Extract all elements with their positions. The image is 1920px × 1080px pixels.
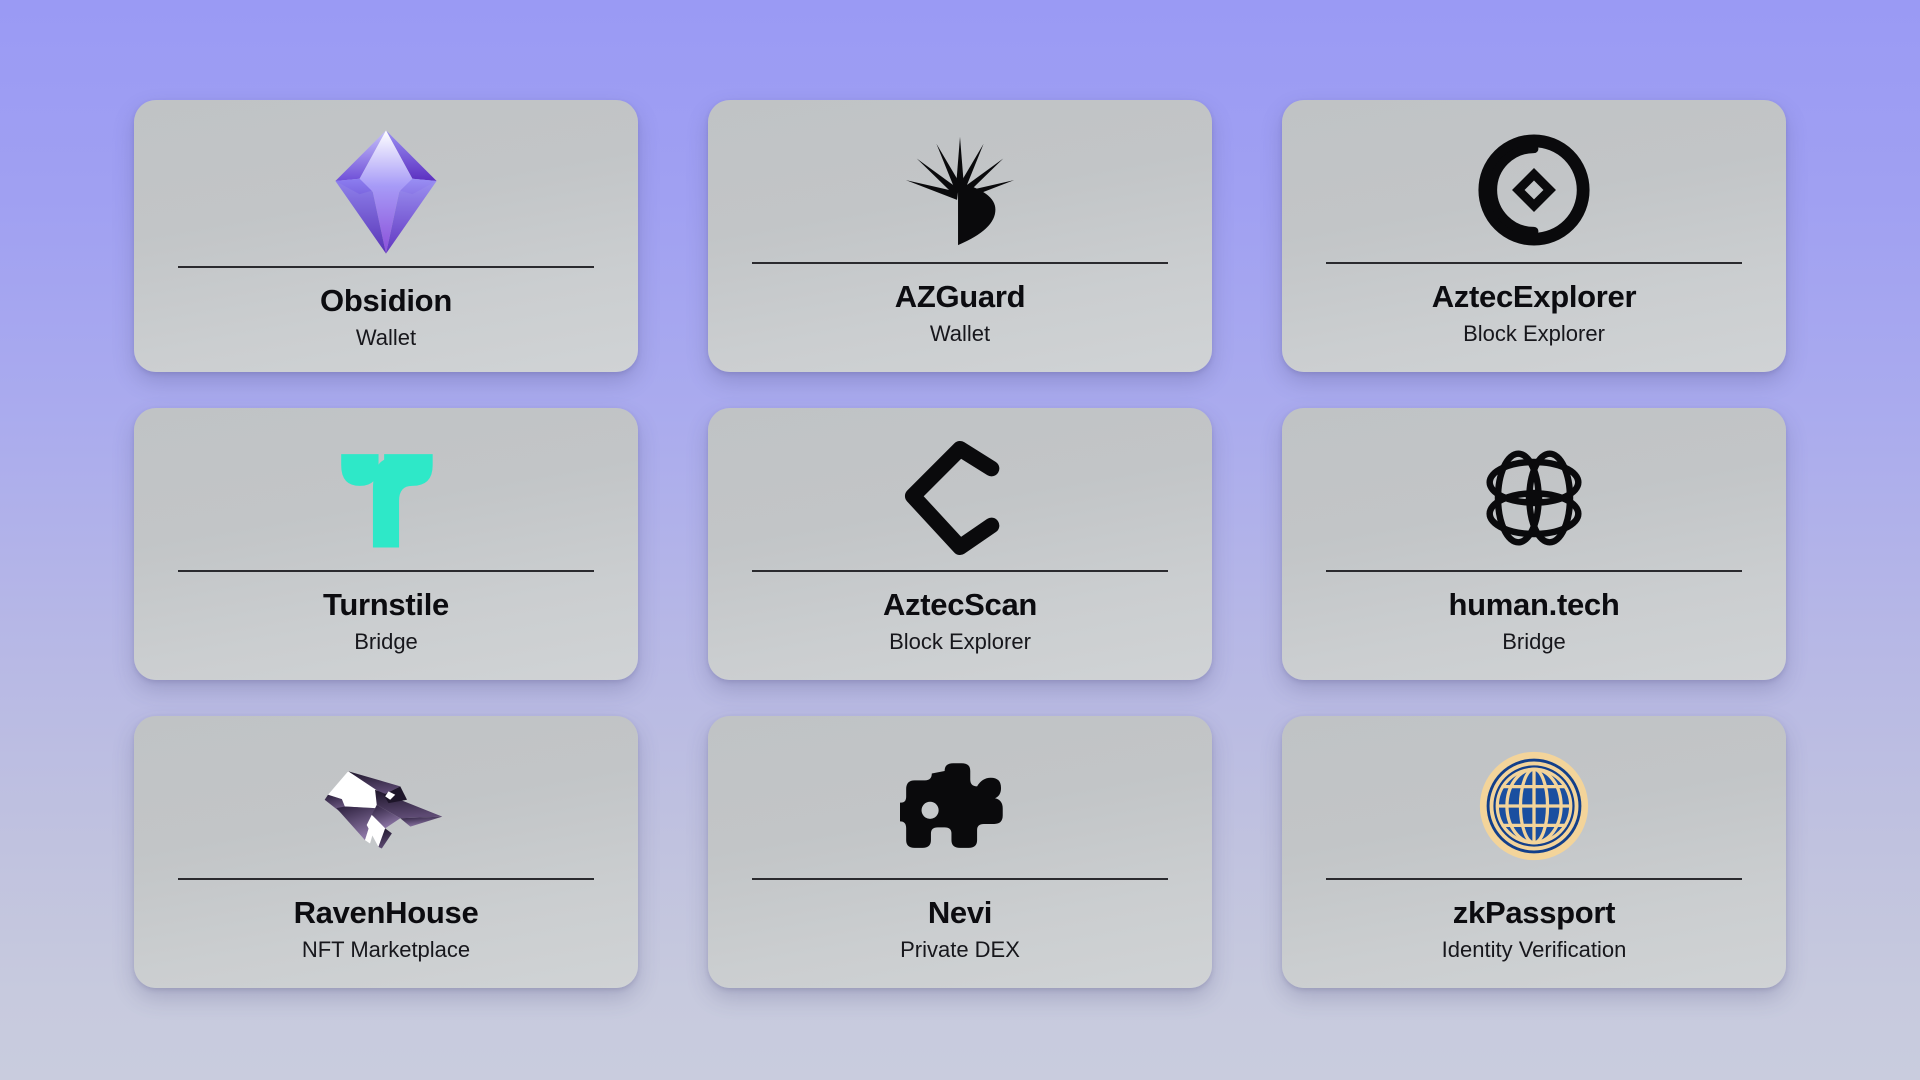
project-name: Obsidion [178, 284, 594, 319]
card-meta: TurnstileBridge [178, 572, 594, 655]
gem-diamond-icon [178, 126, 594, 258]
card-meta: human.techBridge [1326, 572, 1742, 655]
project-category: Private DEX [752, 931, 1168, 963]
card-meta: RavenHouseNFT Marketplace [178, 880, 594, 963]
project-category: Identity Verification [1326, 931, 1742, 963]
diamond-c-bracket-icon [752, 434, 1168, 562]
project-category: Block Explorer [752, 623, 1168, 655]
project-card-ravenhouse[interactable]: RavenHouseNFT Marketplace [134, 716, 638, 988]
project-name: Nevi [752, 896, 1168, 931]
project-name: human.tech [1326, 588, 1742, 623]
project-category: Wallet [752, 315, 1168, 347]
letter-t-icon [178, 434, 594, 562]
project-category: NFT Marketplace [178, 931, 594, 963]
project-category: Bridge [178, 623, 594, 655]
raven-head-icon [178, 742, 594, 870]
project-card-aztecexplorer[interactable]: AztecExplorerBlock Explorer [1282, 100, 1786, 372]
globe-icon [1326, 742, 1742, 870]
card-meta: zkPassportIdentity Verification [1326, 880, 1742, 963]
card-meta: ObsidionWallet [178, 268, 594, 351]
project-category: Bridge [1326, 623, 1742, 655]
project-card-turnstile[interactable]: TurnstileBridge [134, 408, 638, 680]
atom-petals-icon [1326, 434, 1742, 562]
card-meta: NeviPrivate DEX [752, 880, 1168, 963]
project-card-zkpassport[interactable]: zkPassportIdentity Verification [1282, 716, 1786, 988]
project-name: AztecExplorer [1326, 280, 1742, 315]
project-card-humantech[interactable]: human.techBridge [1282, 408, 1786, 680]
project-card-aztecscan[interactable]: AztecScanBlock Explorer [708, 408, 1212, 680]
project-card-nevi[interactable]: NeviPrivate DEX [708, 716, 1212, 988]
project-card-grid: ObsidionWallet AZGuardWallet AztecExplor… [0, 0, 1920, 1080]
project-name: AztecScan [752, 588, 1168, 623]
project-category: Block Explorer [1326, 315, 1742, 347]
puzzle-piece-icon [752, 742, 1168, 870]
project-name: Turnstile [178, 588, 594, 623]
project-name: RavenHouse [178, 896, 594, 931]
card-meta: AztecScanBlock Explorer [752, 572, 1168, 655]
project-name: AZGuard [752, 280, 1168, 315]
starburst-wedge-icon [752, 126, 1168, 254]
project-card-obsidion[interactable]: ObsidionWallet [134, 100, 638, 372]
concentric-rings-diamond-icon [1326, 126, 1742, 254]
card-meta: AZGuardWallet [752, 264, 1168, 347]
project-name: zkPassport [1326, 896, 1742, 931]
card-meta: AztecExplorerBlock Explorer [1326, 264, 1742, 347]
project-category: Wallet [178, 319, 594, 351]
project-card-azguard[interactable]: AZGuardWallet [708, 100, 1212, 372]
